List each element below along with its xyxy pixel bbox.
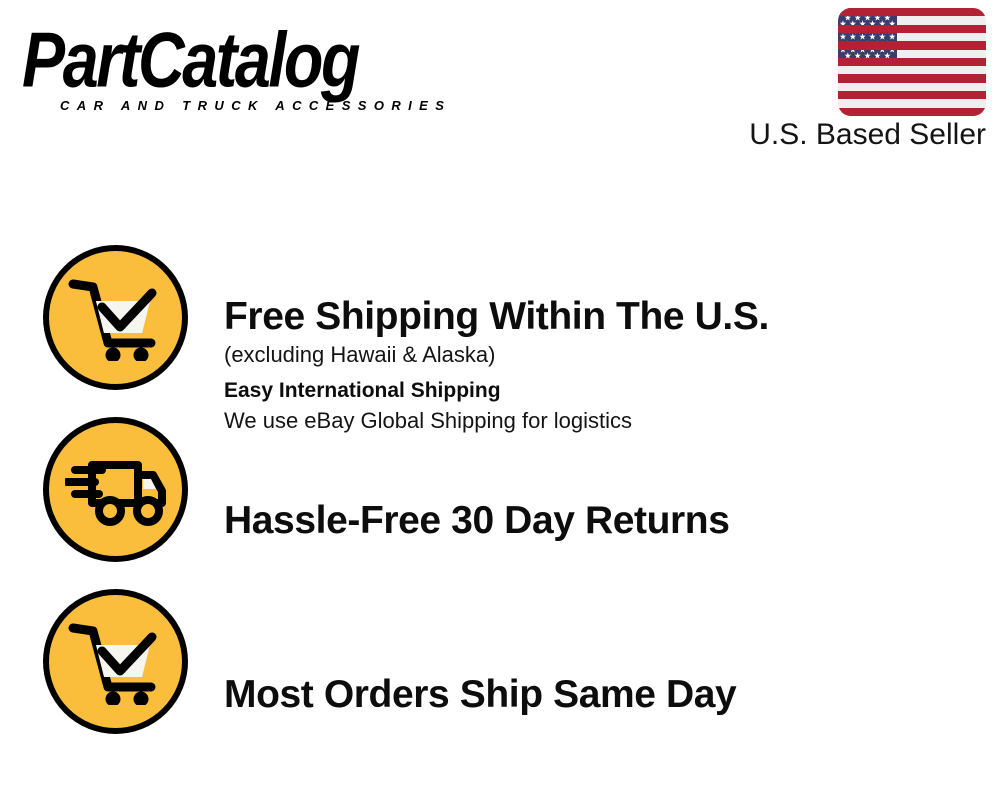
seller-location-label: U.S. Based Seller bbox=[749, 118, 986, 152]
flag-stripe bbox=[838, 25, 986, 33]
feature-title: Hassle-Free 30 Day Returns bbox=[224, 498, 984, 544]
delivery-truck-icon bbox=[43, 417, 188, 562]
flag-stripe bbox=[838, 58, 986, 66]
page-header: PartCatalog CAR AND TRUCK ACCESSORIES ★★… bbox=[0, 0, 1000, 170]
feature-text-block: Most Orders Ship Same Day bbox=[224, 672, 984, 718]
us-flag-icon: ★★★★★★★★★★★★★★★★★★★★★★★★★★★★★★★★★★★★★★★★… bbox=[838, 8, 986, 116]
feature-row: Most Orders Ship Same Day bbox=[0, 576, 1000, 748]
feature-subtitle: (excluding Hawaii & Alaska) bbox=[224, 340, 984, 370]
brand-wordmark: PartCatalog bbox=[22, 18, 483, 101]
flag-stripe bbox=[838, 108, 986, 116]
brand-logo: PartCatalog CAR AND TRUCK ACCESSORIES bbox=[22, 18, 492, 113]
feature-row: Free Shipping Within The U.S. (excluding… bbox=[0, 232, 1000, 404]
shopping-cart-check-icon bbox=[43, 245, 188, 390]
brand-tagline: CAR AND TRUCK ACCESSORIES bbox=[60, 98, 451, 113]
flag-stripe bbox=[838, 41, 986, 49]
feature-row: Hassle-Free 30 Day Returns bbox=[0, 404, 1000, 576]
flag-stripe bbox=[838, 91, 986, 99]
feature-title: Free Shipping Within The U.S. bbox=[224, 294, 984, 340]
feature-text-block: Hassle-Free 30 Day Returns bbox=[224, 498, 984, 544]
flag-stripe bbox=[838, 74, 986, 82]
feature-sub-heading: Easy International Shipping bbox=[224, 376, 984, 406]
feature-title: Most Orders Ship Same Day bbox=[224, 672, 984, 718]
shopping-cart-check-icon bbox=[43, 589, 188, 734]
flag-stripe bbox=[838, 8, 986, 16]
